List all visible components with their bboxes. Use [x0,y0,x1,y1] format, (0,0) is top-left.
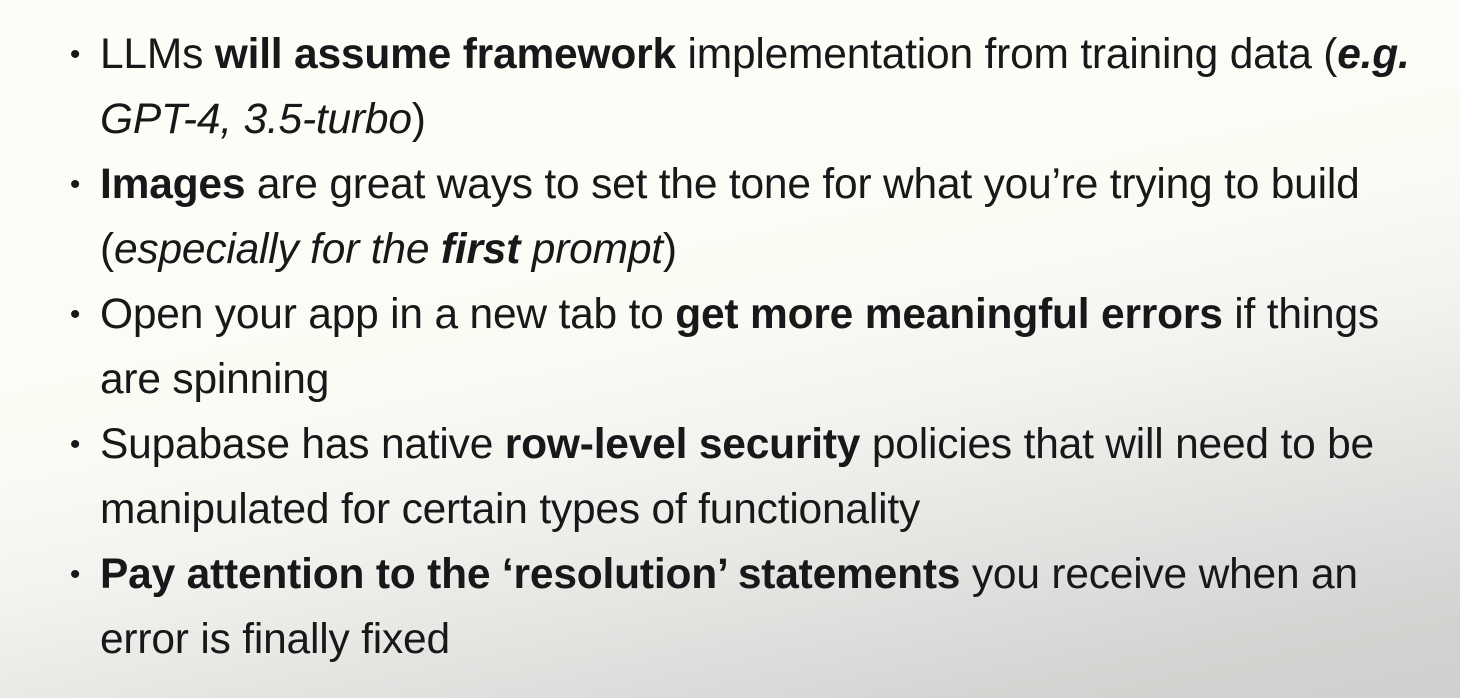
bullet-point-icon: • [68,282,82,347]
list-item: • LLMs will assume framework implementat… [62,22,1442,152]
bullet-point-icon: • [68,412,82,477]
slide-canvas: • LLMs will assume framework implementat… [0,0,1460,698]
bullet-point-icon: • [68,152,82,217]
bullet-point-icon: • [68,542,82,607]
list-item: • Supabase has native row-level security… [62,412,1442,542]
bullet-text-supabase-row-level-security: Supabase has native row-level security p… [100,412,1442,542]
bullet-list: • LLMs will assume framework implementat… [62,22,1442,672]
bullet-text-images-set-the-tone: Images are great ways to set the tone fo… [100,152,1442,282]
bullet-text-llms-assume-framework: LLMs will assume framework implementatio… [100,22,1442,152]
bullet-text-resolution-statements: Pay attention to the ‘resolution’ statem… [100,542,1442,672]
bullet-point-icon: • [68,22,82,87]
list-item: • Pay attention to the ‘resolution’ stat… [62,542,1442,672]
bullet-text-open-app-new-tab: Open your app in a new tab to get more m… [100,282,1442,412]
list-item: • Open your app in a new tab to get more… [62,282,1442,412]
list-item: • Images are great ways to set the tone … [62,152,1442,282]
